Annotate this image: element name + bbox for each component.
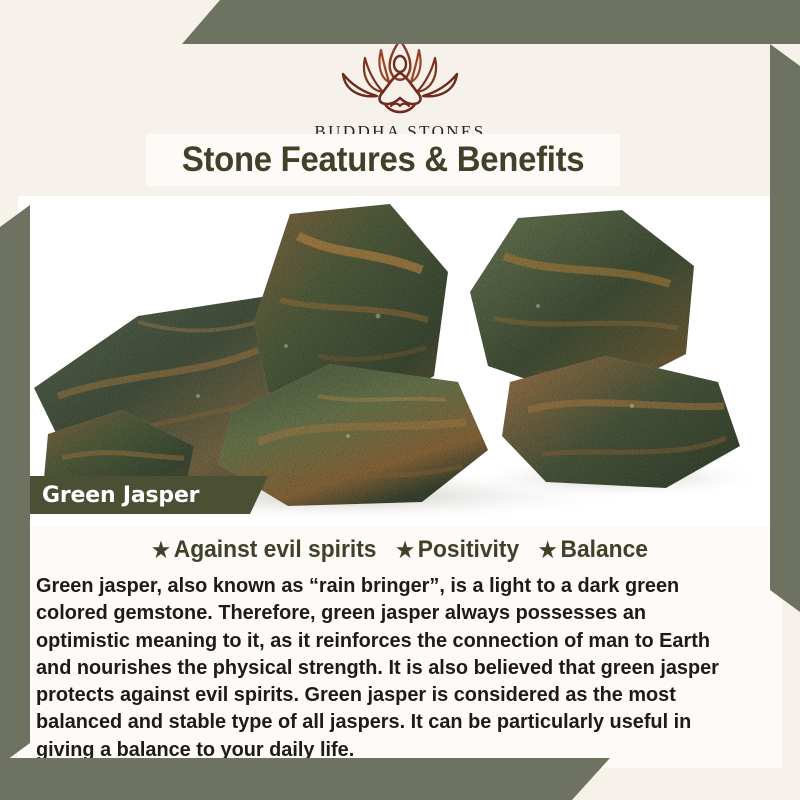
page-title: Stone Features & Benefits: [182, 140, 584, 180]
benefit-label: Positivity: [418, 536, 519, 563]
infographic-page: BUDDHA STONES: [0, 0, 800, 800]
benefit-label: Balance: [560, 536, 647, 563]
benefit-item: ★Balance: [539, 536, 648, 564]
star-icon: ★: [539, 539, 557, 562]
stone-description-text: Green jasper, also known as “rain bringe…: [36, 572, 742, 763]
stone-name-label: Green Jasper: [18, 483, 199, 508]
description-area: ★Against evil spirits ★Positivity ★Balan…: [18, 526, 782, 768]
star-icon: ★: [396, 539, 414, 562]
decor-olive-right-strip: [770, 44, 800, 612]
stone-name-banner: Green Jasper: [18, 476, 268, 514]
decor-olive-left-strip: [0, 205, 30, 765]
star-icon: ★: [152, 539, 170, 562]
benefit-item: ★Positivity: [396, 536, 519, 564]
section-title-band: Stone Features & Benefits: [146, 134, 620, 186]
brand-logo: BUDDHA STONES: [295, 34, 505, 142]
benefit-item: ★Against evil spirits: [152, 536, 376, 564]
lotus-meditation-icon: [325, 34, 475, 118]
benefits-list: ★Against evil spirits ★Positivity ★Balan…: [37, 536, 763, 564]
benefit-label: Against evil spirits: [174, 536, 377, 563]
